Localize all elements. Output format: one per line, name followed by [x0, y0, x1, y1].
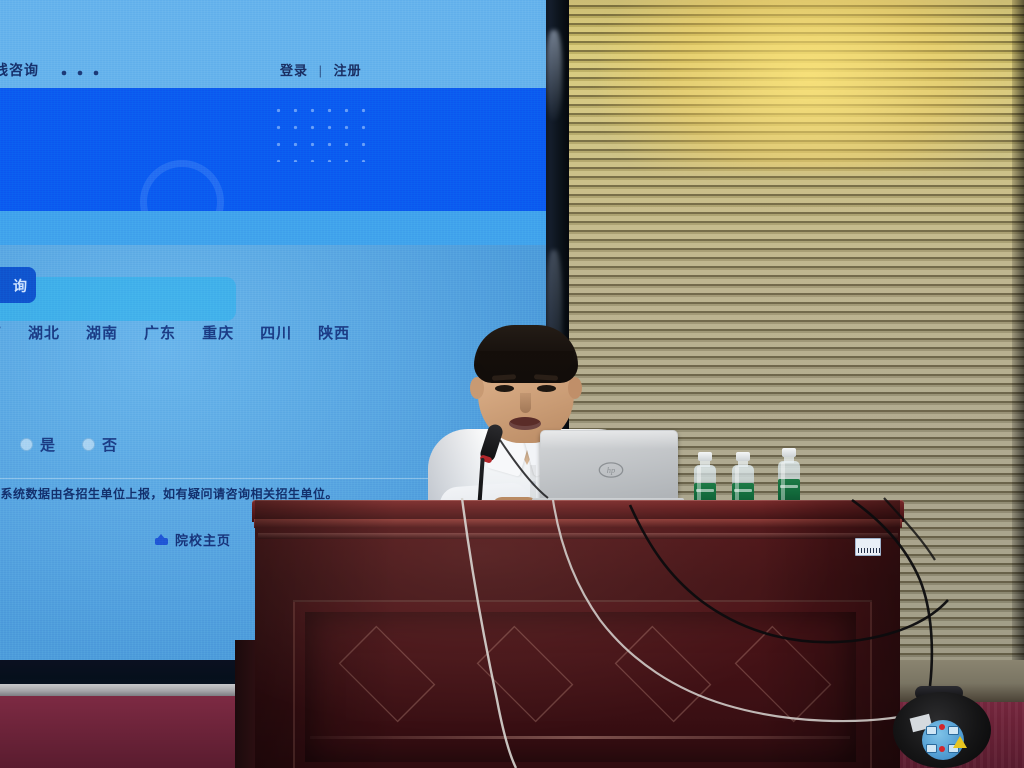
bottle-cap-2 — [736, 452, 750, 461]
province-filter-row[interactable]: 南湖北湖南广东重庆四川陕西 — [0, 322, 406, 343]
bottle-highlight-3 — [781, 462, 785, 502]
home-icon — [155, 534, 168, 545]
presenter-ear-right — [568, 377, 582, 399]
warning-triangle-icon — [953, 736, 967, 748]
presenter-eye-right — [537, 385, 556, 392]
bottle-cap-1 — [698, 452, 712, 461]
floor-left-region — [0, 696, 256, 768]
school-homepage-label: 院校主页 — [175, 530, 231, 549]
province-item-0[interactable]: 南 — [0, 322, 2, 343]
cable-reel[interactable] — [893, 686, 991, 768]
filter-option-2[interactable]: 否 — [82, 434, 118, 455]
webpage-hero-banner — [0, 88, 546, 211]
reel-reset-button-1[interactable] — [939, 724, 945, 730]
reel-reset-button-2[interactable] — [939, 746, 945, 752]
boolean-filter-row[interactable]: 部是否 — [0, 434, 118, 455]
reel-socket-3[interactable] — [926, 744, 937, 753]
province-item-3[interactable]: 广东 — [144, 322, 176, 343]
province-item-4[interactable]: 重庆 — [202, 322, 234, 343]
filter-option-1[interactable]: 是 — [20, 434, 56, 455]
search-button-label: 询 — [13, 276, 27, 296]
water-bottle-3 — [776, 448, 802, 504]
bottle-neck-2 — [738, 460, 748, 467]
reel-socket-1[interactable] — [926, 726, 937, 735]
school-homepage-link[interactable]: 院校主页 — [155, 530, 231, 549]
province-item-1[interactable]: 湖北 — [28, 322, 60, 343]
province-item-6[interactable]: 陕西 — [318, 322, 350, 343]
radio-dot-1[interactable] — [20, 438, 33, 451]
bottle-neck-1 — [700, 460, 710, 467]
wall-right-edge — [1012, 0, 1024, 700]
presenter-hair — [474, 325, 578, 383]
hero-dot-pattern — [270, 102, 370, 162]
online-consult-link[interactable]: 线咨询 — [0, 60, 39, 80]
register-link[interactable]: 注册 — [334, 63, 362, 78]
bottle-cap-3 — [782, 448, 796, 457]
presenter-nose — [520, 393, 531, 413]
radio-dot-2[interactable] — [82, 438, 95, 451]
filter-option-label-2: 否 — [102, 434, 118, 455]
webpage-accent-band — [0, 211, 546, 245]
screenshot-scene: 线咨询 登录 | 注册 询 南湖北湖南广东重庆四川陕西 部是否 本系统数据由各招… — [0, 0, 1024, 768]
bottle-neck-3 — [784, 456, 794, 463]
wall-light-glow — [600, 0, 1020, 170]
reel-socket-2[interactable] — [948, 726, 959, 735]
frame-glint-a — [546, 30, 562, 120]
presenter-eye-left — [495, 385, 514, 392]
presenter-mouth — [509, 417, 541, 430]
province-item-5[interactable]: 四川 — [260, 322, 292, 343]
search-button[interactable]: 询 — [0, 267, 36, 303]
auth-separator: | — [319, 63, 323, 78]
auth-links: 登录 | 注册 — [280, 60, 362, 79]
province-item-2[interactable]: 湖南 — [86, 322, 118, 343]
filter-option-label-1: 是 — [40, 434, 56, 455]
podium-shading — [255, 500, 900, 768]
podium-asset-tag — [855, 538, 881, 556]
ellipsis-icon — [58, 68, 118, 78]
webpage-topbar: 线咨询 登录 | 注册 — [0, 0, 546, 88]
shirt-button-1 — [531, 481, 536, 486]
svg-text:hp: hp — [607, 465, 615, 475]
hp-logo-icon: hp — [598, 462, 624, 478]
login-link[interactable]: 登录 — [280, 63, 308, 78]
webpage-topbar-row: 线咨询 登录 | 注册 — [0, 60, 546, 86]
